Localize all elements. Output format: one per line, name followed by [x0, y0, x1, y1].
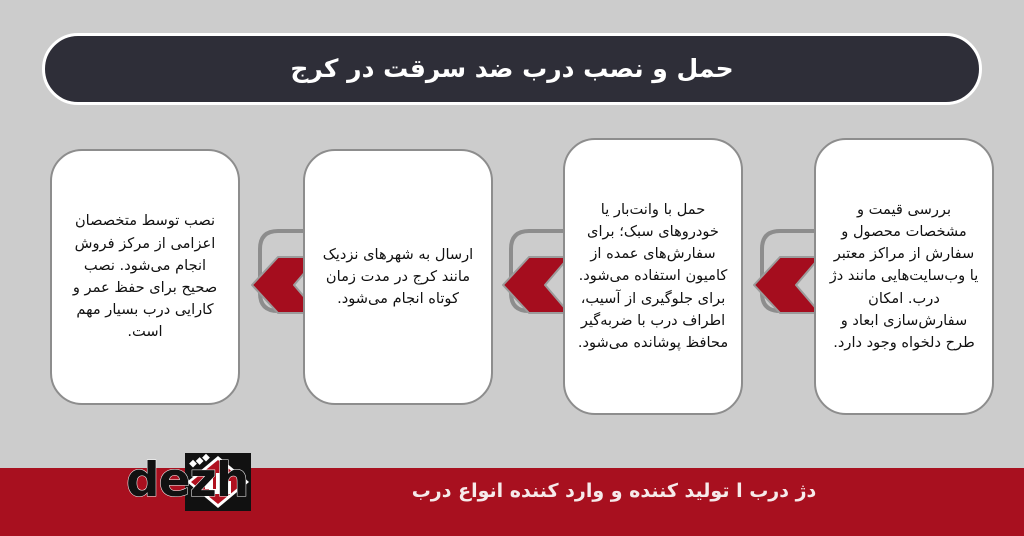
step-card-4-text: نصب توسط متخصصان اعزامی از مرکز فروش انج…	[64, 210, 226, 343]
footer-tagline: دژ درب ا تولید کننده و وارد کننده انواع …	[234, 480, 994, 502]
step-card-2: حمل با وانت‌بار یا خودروهای سبک؛ برای سف…	[563, 138, 743, 415]
page-title: حمل و نصب درب ضد سرقت در کرج	[290, 54, 733, 84]
brand-wordmark: dezh	[126, 457, 248, 504]
step-card-2-text: حمل با وانت‌بار یا خودروهای سبک؛ برای سف…	[577, 199, 729, 354]
step-card-1: بررسی قیمت و مشخصات محصول و سفارش از مرا…	[814, 138, 994, 415]
page-title-bar: حمل و نصب درب ضد سرقت در کرج	[42, 33, 982, 105]
step-card-4: نصب توسط متخصصان اعزامی از مرکز فروش انج…	[50, 149, 240, 405]
infographic-canvas: حمل و نصب درب ضد سرقت در کرج بررسی قیمت …	[0, 0, 1024, 536]
brand-logo: dezh	[48, 451, 253, 513]
step-card-1-text: بررسی قیمت و مشخصات محصول و سفارش از مرا…	[828, 199, 980, 354]
step-card-3-text: ارسال به شهرهای نزدیک مانند کرج در مدت ز…	[317, 244, 479, 311]
step-card-3: ارسال به شهرهای نزدیک مانند کرج در مدت ز…	[303, 149, 493, 405]
